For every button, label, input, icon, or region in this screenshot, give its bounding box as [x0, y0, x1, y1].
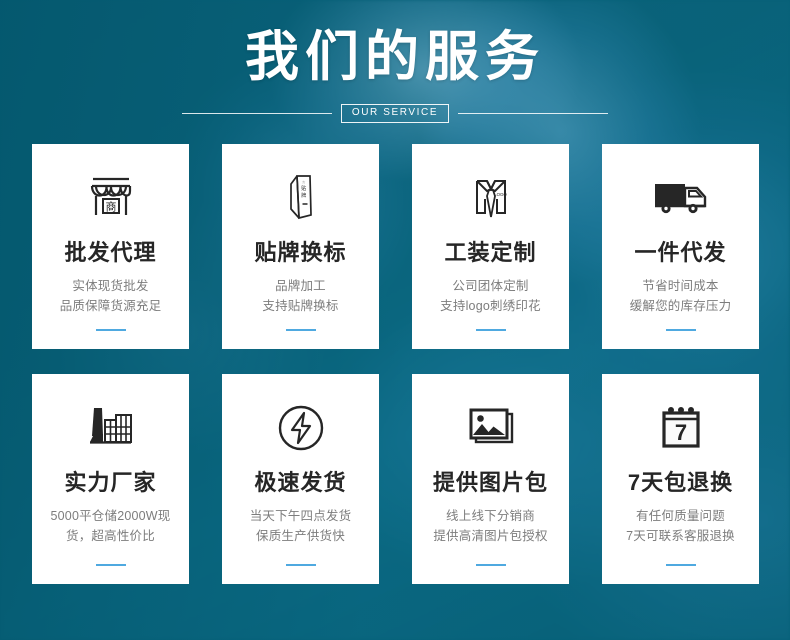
subtitle-row: OUR SERVICE [0, 104, 790, 124]
card-accent-rule [666, 329, 696, 331]
card-desc-line-2: 支持贴牌换标 [262, 299, 338, 313]
service-card-uniform-customization[interactable]: LOGO 工装定制 公司团体定制 支持logo刺绣印花 [412, 144, 569, 349]
shirt-tie-icon-label: LOGO [494, 192, 507, 197]
card-desc-line-1: 线上线下分销商 [446, 509, 535, 523]
service-card-dropshipping[interactable]: 一件代发 节省时间成本 缓解您的库存压力 [602, 144, 759, 349]
card-desc-line-2: 保质生产供货快 [256, 529, 345, 543]
storefront-icon: 商 [82, 166, 140, 230]
service-card-fast-shipping[interactable]: 极速发货 当天下午四点发货 保质生产供货快 [222, 374, 379, 584]
card-desc-line-2: 7天可联系客服退换 [626, 529, 735, 543]
card-accent-rule [96, 329, 126, 331]
card-description: 有任何质量问题 7天可联系客服退换 [620, 506, 741, 547]
subtitle-rule-left [182, 113, 332, 114]
card-desc-line-1: 5000平仓储2000W现 [50, 509, 170, 523]
page-header: 我们的服务 OUR SERVICE [0, 0, 790, 123]
delivery-truck-icon [649, 166, 713, 230]
card-description: 线上线下分销商 提供高清图片包授权 [427, 506, 553, 547]
card-description: 5000平仓储2000W现 货，超高性价比 [44, 506, 176, 547]
service-card-image-pack[interactable]: 提供图片包 线上线下分销商 提供高清图片包授权 [412, 374, 569, 584]
card-desc-line-2: 货，超高性价比 [66, 529, 155, 543]
card-title: 提供图片包 [433, 470, 548, 496]
service-card-wholesale-agency[interactable]: 商 批发代理 实体现货批发 品质保障货源充足 [32, 144, 189, 349]
shirt-tie-icon: LOGO [461, 166, 521, 230]
card-description: 实体现货批发 品质保障货源充足 [54, 276, 168, 317]
card-desc-line-2: 支持logo刺绣印花 [440, 299, 541, 313]
card-accent-rule [666, 564, 696, 566]
service-card-7day-return[interactable]: 7 7天包退换 有任何质量问题 7天可联系客服退换 [602, 374, 759, 584]
factory-icon [81, 396, 141, 460]
card-desc-line-1: 节省时间成本 [642, 279, 718, 293]
subtitle-rule-right [458, 113, 608, 114]
card-accent-rule [96, 564, 126, 566]
card-desc-line-2: 品质保障货源充足 [60, 299, 162, 313]
card-title: 7天包退换 [628, 470, 733, 496]
service-card-factory[interactable]: 实力厂家 5000平仓储2000W现 货，超高性价比 [32, 374, 189, 584]
card-description: 当天下午四点发货 保质生产供货快 [244, 506, 358, 547]
garment-label-icon-label-1: 贴 [301, 185, 306, 192]
card-title: 工装定制 [444, 240, 536, 266]
card-accent-rule [286, 329, 316, 331]
subtitle-badge: OUR SERVICE [341, 104, 449, 124]
card-desc-line-1: 实体现货批发 [72, 279, 148, 293]
card-desc-line-1: 当天下午四点发货 [250, 509, 352, 523]
service-card-private-label[interactable]: ☆ 贴 牌 贴牌换标 品牌加工 支持贴牌换标 [222, 144, 379, 349]
svg-text:☆: ☆ [301, 180, 305, 185]
services-grid: 商 批发代理 实体现货批发 品质保障货源充足 ☆ 贴 牌 贴牌换标 品牌加工 支… [32, 144, 758, 584]
card-title: 贴牌换标 [254, 240, 346, 266]
storefront-icon-label: 商 [105, 200, 116, 214]
card-description: 品牌加工 支持贴牌换标 [256, 276, 344, 317]
card-title: 极速发货 [254, 470, 346, 496]
page-title: 我们的服务 [0, 26, 790, 90]
card-title: 批发代理 [64, 240, 156, 266]
card-accent-rule [476, 564, 506, 566]
calendar-icon-label: 7 [674, 420, 686, 445]
card-desc-line-1: 品牌加工 [275, 279, 326, 293]
card-desc-line-1: 有任何质量问题 [636, 509, 725, 523]
card-description: 公司团体定制 支持logo刺绣印花 [434, 276, 547, 317]
card-title: 一件代发 [634, 240, 726, 266]
image-stack-icon [460, 396, 522, 460]
card-title: 实力厂家 [64, 470, 156, 496]
card-description: 节省时间成本 缓解您的库存压力 [624, 276, 738, 317]
card-desc-line-2: 提供高清图片包授权 [433, 529, 547, 543]
card-desc-line-2: 缓解您的库存压力 [630, 299, 732, 313]
card-accent-rule [286, 564, 316, 566]
card-desc-line-1: 公司团体定制 [452, 279, 528, 293]
lightning-bolt-icon [273, 396, 329, 460]
card-accent-rule [476, 329, 506, 331]
garment-label-icon-label-2: 牌 [301, 192, 306, 199]
garment-label-icon: ☆ 贴 牌 [272, 166, 330, 230]
calendar-icon: 7 [653, 396, 709, 460]
